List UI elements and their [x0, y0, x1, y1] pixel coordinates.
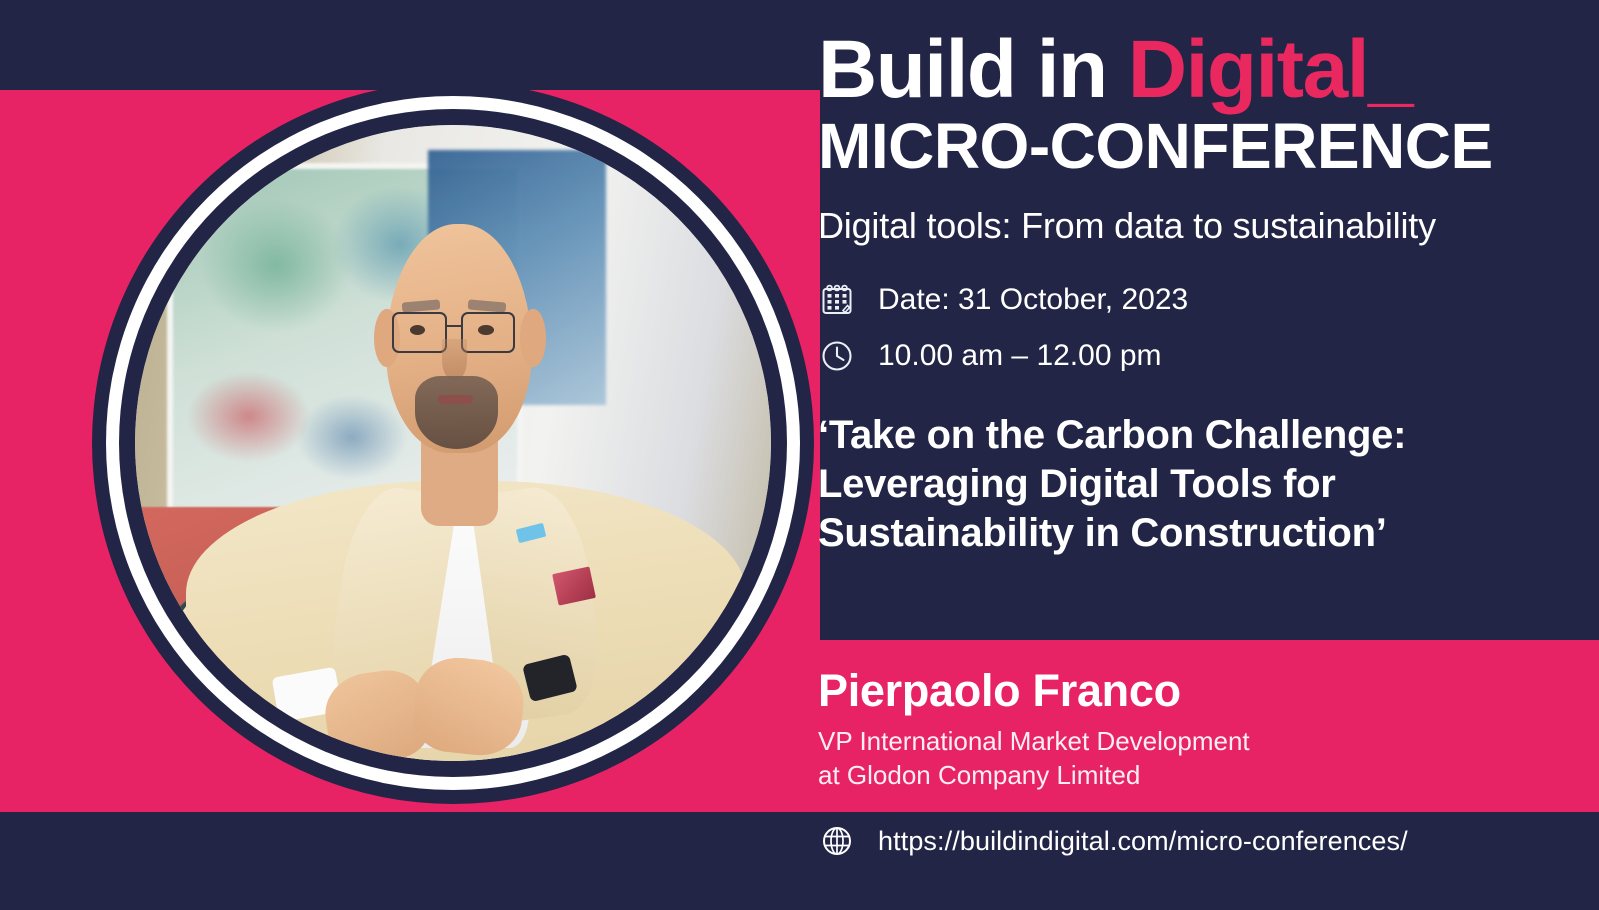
portrait-inner-ring [119, 109, 787, 777]
portrait-mouth [438, 395, 474, 405]
event-date-row: Date: 31 October, 2023 [818, 281, 1599, 319]
conference-poster: Build in Digital_ MICRO-CONFERENCE Digit… [0, 0, 1599, 910]
brand-logo-line2: MICRO-CONFERENCE [818, 112, 1599, 181]
speaker-role-line2: at Glodon Company Limited [818, 758, 1599, 793]
portrait-white-ring [106, 96, 800, 790]
event-meta: Date: 31 October, 2023 10.00 am – 12.00 … [818, 281, 1599, 375]
portrait-glasses-bridge [447, 325, 462, 327]
footer-url[interactable]: https://buildindigital.com/micro-confere… [878, 826, 1408, 857]
speaker-portrait-frame [92, 82, 814, 804]
portrait-glasses-right-lens [461, 312, 516, 353]
brand-logo-line1: Build in Digital_ [818, 28, 1599, 112]
portrait-ear-right [520, 309, 545, 366]
speaker-info: Pierpaolo Franco VP International Market… [818, 640, 1599, 812]
calendar-icon [818, 281, 856, 319]
speaker-role: VP International Market Development at G… [818, 724, 1599, 793]
event-time-row: 10.00 am – 12.00 pm [818, 337, 1599, 375]
talk-title: ‘Take on the Carbon Challenge: Leveragin… [818, 411, 1538, 559]
event-tagline: Digital tools: From data to sustainabili… [818, 205, 1599, 247]
portrait-glasses-left-lens [392, 312, 447, 353]
globe-icon [818, 822, 856, 860]
event-date-label: Date: 31 October, 2023 [878, 283, 1188, 317]
speaker-role-line1: VP International Market Development [818, 724, 1599, 759]
speaker-portrait-photo [135, 125, 771, 761]
footer-url-row[interactable]: https://buildindigital.com/micro-confere… [818, 822, 1599, 860]
brand-logo-underscore: _ [1368, 24, 1412, 115]
portrait-nose [442, 339, 467, 381]
portrait-beard [415, 376, 498, 449]
content-column: Build in Digital_ MICRO-CONFERENCE Digit… [818, 0, 1599, 910]
brand-logo-prefix: Build in [818, 24, 1128, 115]
brand-logo-accent: Digital [1128, 24, 1368, 115]
clock-icon [818, 337, 856, 375]
event-time-label: 10.00 am – 12.00 pm [878, 339, 1162, 373]
speaker-name: Pierpaolo Franco [818, 666, 1599, 716]
